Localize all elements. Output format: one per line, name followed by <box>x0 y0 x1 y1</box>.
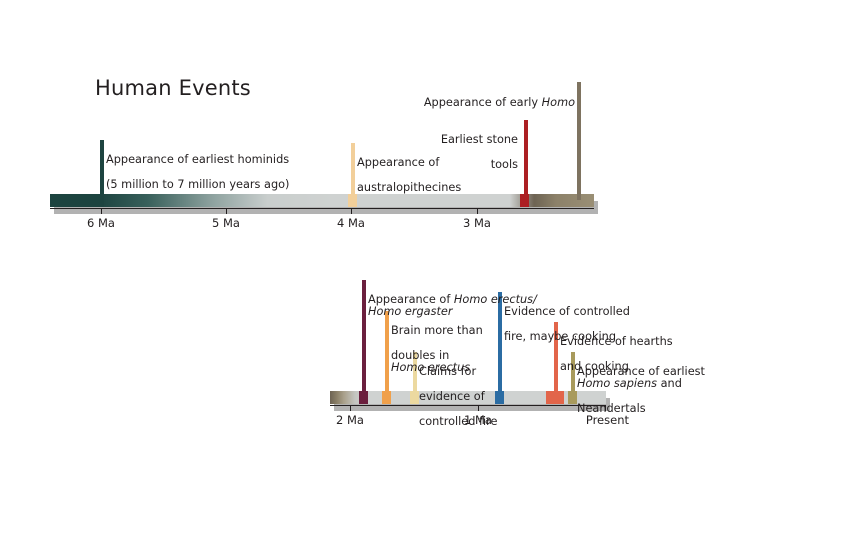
callout-earliest-hominids-line2: (5 million to 7 million years ago) <box>106 178 289 191</box>
upper-tick-6ma <box>101 208 102 214</box>
callout-earliest-homo-sapiens-line3: Neandertals <box>577 402 646 415</box>
callout-brain-doubles-line1: Brain more than <box>391 324 483 337</box>
marker-foot-australopithecines <box>348 194 357 207</box>
callout-claims-controlled-fire-line3: controlled fire <box>419 415 497 428</box>
upper-tick-5ma <box>226 208 227 214</box>
upper-tick-label-5ma: 5 Ma <box>212 216 240 230</box>
callout-evidence-hearths-cooking-line1: Evidence of hearths <box>560 335 673 348</box>
callout-appearance-early-homo-prefix: Appearance of early <box>424 96 542 109</box>
callout-claims-controlled-fire-line2: evidence of <box>419 390 485 403</box>
upper-tick-4ma <box>351 208 352 214</box>
callout-earliest-stone-tools-line2: tools <box>491 158 518 171</box>
upper-tick-label-4ma: 4 Ma <box>337 216 365 230</box>
upper-timeline-bar <box>50 194 594 207</box>
marker-foot-earliest-stone-tools <box>520 194 529 207</box>
callout-homo-erectus-ergaster-prefix: Appearance of <box>368 293 454 306</box>
callout-earliest-homo-sapiens-species: Homo sapiens <box>577 377 657 390</box>
upper-tick-3ma <box>477 208 478 214</box>
callout-earliest-stone-tools: Earliest stone tools <box>404 121 518 171</box>
callout-earliest-homo-sapiens-line1: Appearance of earliest <box>577 365 705 378</box>
marker-foot-earliest-homo-sapiens <box>568 391 577 404</box>
callout-earliest-hominids-line1: Appearance of earliest hominids <box>106 153 289 166</box>
callout-claims-controlled-fire: Claims for evidence of controlled fire <box>419 353 539 429</box>
callout-evidence-controlled-fire-line1: Evidence of controlled <box>504 305 630 318</box>
callout-claims-controlled-fire-line1: Claims for <box>419 365 476 378</box>
figure-canvas: Human Events 6 Ma 5 Ma 4 Ma 3 Ma Appeara… <box>0 0 844 538</box>
upper-tick-label-6ma: 6 Ma <box>87 216 115 230</box>
callout-earliest-homo-sapiens: Appearance of earliestHomo sapiens and N… <box>577 353 737 416</box>
lower-tick-2ma <box>350 405 351 411</box>
marker-earliest-hominids[interactable] <box>100 140 104 207</box>
marker-homo-erectus-ergaster[interactable] <box>362 280 366 403</box>
marker-earliest-stone-tools[interactable] <box>524 120 528 200</box>
marker-foot-claims-controlled-fire <box>410 391 419 404</box>
callout-earliest-stone-tools-line1: Earliest stone <box>441 133 518 146</box>
callout-earliest-hominids: Appearance of earliest hominids (5 milli… <box>106 141 336 191</box>
marker-brain-doubles[interactable] <box>385 311 389 403</box>
figure-title: Human Events <box>95 76 251 100</box>
lower-tick-label-2ma: 2 Ma <box>336 413 364 427</box>
callout-appearance-early-homo: Appearance of early Homo <box>397 84 575 109</box>
callout-earliest-homo-sapiens-conjunction: and <box>657 377 682 390</box>
marker-appearance-early-homo[interactable] <box>577 82 581 200</box>
callout-appearance-early-homo-genus: Homo <box>542 96 575 109</box>
marker-foot-brain-doubles <box>382 391 391 404</box>
callout-australopithecines-line2: australopithecines <box>357 181 461 194</box>
marker-foot-homo-erectus-ergaster <box>359 391 368 404</box>
marker-foot-evidence-hearths-cooking <box>546 391 564 404</box>
upper-tick-label-3ma: 3 Ma <box>463 216 491 230</box>
upper-axis-line <box>50 208 594 209</box>
